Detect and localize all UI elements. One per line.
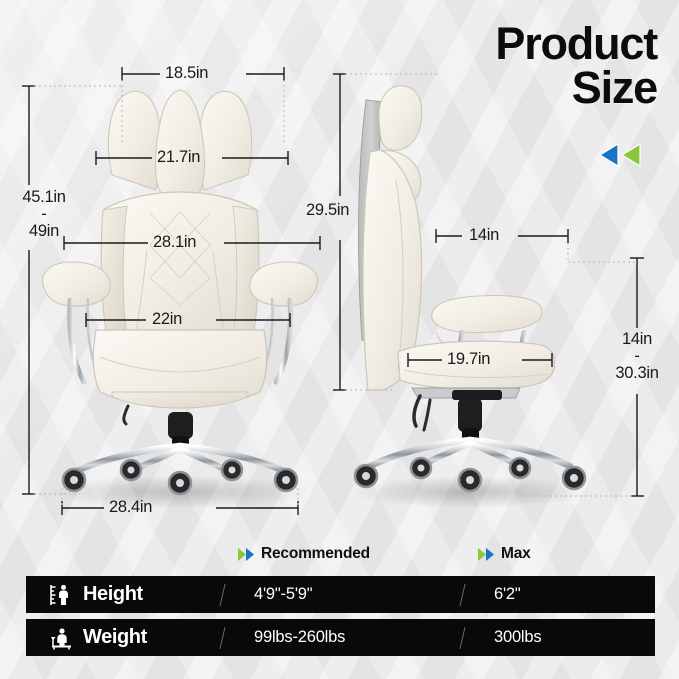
spec-row-weight-label: Weight <box>83 626 147 649</box>
dim-line-backrest-height <box>333 74 347 390</box>
front-gas-cylinder <box>168 412 193 439</box>
spec-row-weight-label-group: Weight <box>26 625 241 651</box>
spec-divider <box>459 584 465 606</box>
front-right-armrest <box>250 262 318 306</box>
dim-label-overall-height: 45.1in - 49in <box>6 189 82 240</box>
product-size-infographic: Product Size <box>0 0 679 679</box>
spec-header-recommended: Recommended <box>238 545 370 563</box>
spec-divider <box>459 627 465 649</box>
side-armrest <box>432 296 542 333</box>
spec-height-recommended-value: 4'9"-5'9" <box>254 585 312 604</box>
spec-header-recommended-label: Recommended <box>261 545 370 563</box>
weight-scale-person-icon <box>48 625 74 651</box>
spec-weight-max-value: 300lbs <box>494 628 541 647</box>
dim-seat-height-line1: 14in <box>622 330 652 348</box>
front-footrest-panel <box>112 392 248 408</box>
spec-table-header: Recommended Max <box>26 545 655 570</box>
dim-label-seat-height-range: 14in - 30.3in <box>597 331 677 382</box>
dim-line-armrest-depth <box>436 229 568 243</box>
dim-label-back-width: 28.1in <box>153 233 196 252</box>
dim-seat-height-dash: - <box>634 347 639 365</box>
dim-line-overall-height <box>22 86 36 494</box>
dim-label-headrest-width: 18.5in <box>165 64 208 83</box>
dim-label-armrest-depth: 14in <box>469 226 499 245</box>
spec-height-max-value: 6'2" <box>494 585 521 604</box>
dim-overall-height-line3: 49in <box>29 222 59 240</box>
side-view-chair <box>352 86 588 508</box>
dim-overall-height-dash: - <box>41 205 46 223</box>
side-height-lever <box>424 400 430 430</box>
side-headrest <box>379 86 422 150</box>
side-base-star <box>370 440 570 472</box>
front-left-bolster <box>101 206 127 330</box>
front-right-arm-post <box>276 300 290 382</box>
double-arrow-right-icon <box>238 548 255 561</box>
front-left-armrest <box>43 262 111 306</box>
dim-ext-armrest-depth <box>568 243 636 262</box>
spec-row-weight: Weight 99lbs-260lbs 300lbs <box>26 619 655 656</box>
dim-label-seat-width: 22in <box>152 310 182 329</box>
dim-label-seat-depth: 19.7in <box>447 350 490 369</box>
dim-seat-height-line3: 30.3in <box>615 364 658 382</box>
side-tilt-lever <box>414 396 420 426</box>
front-tilt-lever <box>124 406 128 424</box>
spec-row-height: Height 4'9"-5'9" 6'2" <box>26 576 655 613</box>
dim-label-backrest-width: 21.7in <box>157 148 200 167</box>
dim-label-base-width: 28.4in <box>109 498 152 517</box>
side-gas-cylinder <box>458 398 482 432</box>
dim-overall-height-line1: 45.1in <box>22 188 65 206</box>
double-arrow-right-icon <box>478 548 495 561</box>
dim-label-backrest-height: 29.5in <box>306 201 349 220</box>
front-right-wing <box>199 91 251 190</box>
height-ruler-person-icon <box>48 582 74 608</box>
spec-row-height-label: Height <box>83 583 143 606</box>
spec-row-height-label-group: Height <box>26 582 241 608</box>
spec-weight-recommended-value: 99lbs-260lbs <box>254 628 345 647</box>
spec-table: Recommended Max Height <box>26 545 655 656</box>
front-left-wing <box>108 91 160 190</box>
front-right-bolster <box>233 206 259 330</box>
spec-header-max-label: Max <box>501 545 531 563</box>
spec-header-max: Max <box>478 545 531 563</box>
front-left-arm-post <box>70 300 84 382</box>
